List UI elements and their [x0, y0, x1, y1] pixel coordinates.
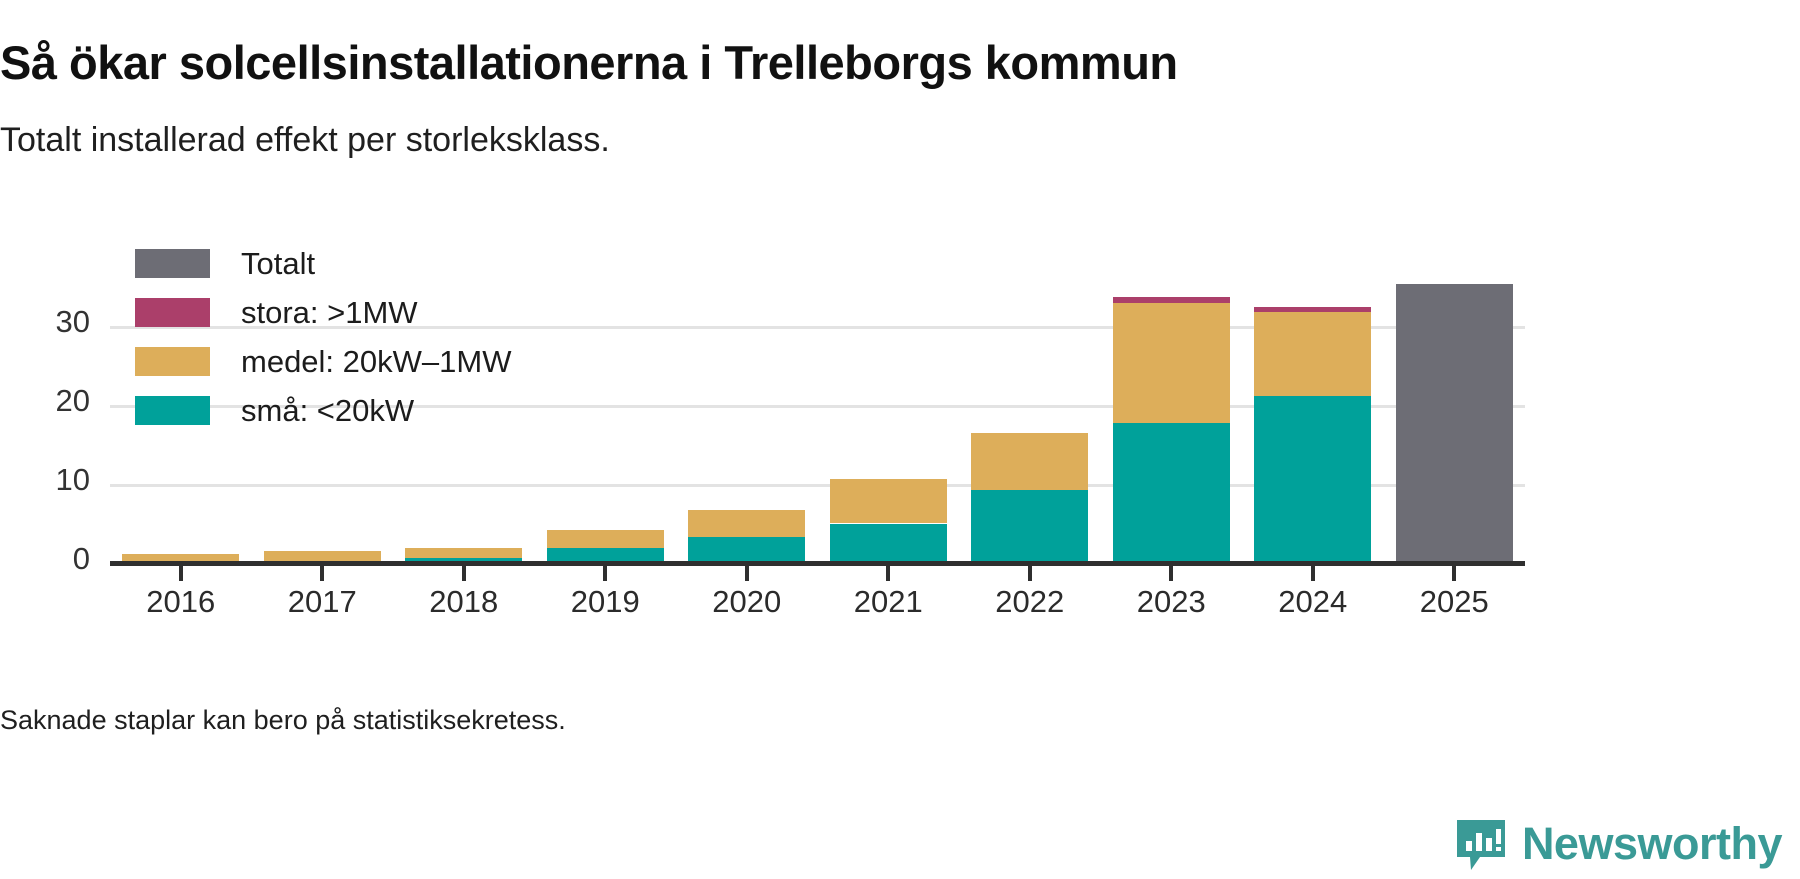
x-axis-tick-mark [320, 566, 324, 581]
x-axis-tick-mark [1311, 566, 1315, 581]
newsworthy-logo[interactable]: Newsworthy [1454, 817, 1782, 871]
bar-segment-sma[interactable] [688, 537, 805, 563]
x-axis-tick-label-2018: 2018 [384, 584, 544, 620]
chart-footnote: Saknade staplar kan bero på statistiksek… [0, 705, 566, 736]
bar-segment-totalt[interactable] [1396, 284, 1513, 563]
legend-swatch-icon [135, 347, 210, 376]
bar-segment-stora[interactable] [1113, 297, 1230, 303]
bar-segment-medel[interactable] [971, 433, 1088, 491]
x-axis-tick-label-2019: 2019 [525, 584, 685, 620]
legend-swatch-icon [135, 249, 210, 278]
x-axis-tick-label-2024: 2024 [1233, 584, 1393, 620]
x-axis-tick-mark [1169, 566, 1173, 581]
bar-segment-stora[interactable] [1254, 307, 1371, 312]
y-axis-tick-label: 10 [0, 462, 90, 498]
x-axis-tick-label-2020: 2020 [667, 584, 827, 620]
bar-group-2023[interactable] [1113, 0, 1230, 563]
y-axis-tick-label: 0 [0, 541, 90, 577]
x-axis-tick-label-2016: 2016 [101, 584, 261, 620]
bar-segment-sma[interactable] [1113, 423, 1230, 563]
legend-item-3[interactable]: små: <20kW [135, 386, 511, 435]
legend-item-label: små: <20kW [241, 393, 414, 429]
bar-segment-sma[interactable] [830, 524, 947, 564]
chart-legend: Totaltstora: >1MWmedel: 20kW–1MWsmå: <20… [135, 239, 511, 435]
newsworthy-wordmark: Newsworthy [1522, 818, 1782, 870]
bar-segment-sma[interactable] [1254, 396, 1371, 563]
bar-group-2025[interactable] [1396, 0, 1513, 563]
bar-segment-medel[interactable] [264, 551, 381, 560]
bar-group-2022[interactable] [971, 0, 1088, 563]
bar-segment-sma[interactable] [971, 490, 1088, 563]
newsworthy-bar-chart-icon [1454, 817, 1508, 871]
x-axis-tick-mark [1028, 566, 1032, 581]
legend-item-label: Totalt [241, 246, 315, 282]
legend-item-label: stora: >1MW [241, 295, 418, 331]
legend-swatch-icon [135, 298, 210, 327]
x-axis-tick-mark [603, 566, 607, 581]
bar-segment-medel[interactable] [1254, 312, 1371, 397]
bar-group-2021[interactable] [830, 0, 947, 563]
x-axis-tick-label-2023: 2023 [1091, 584, 1251, 620]
legend-item-label: medel: 20kW–1MW [241, 344, 511, 380]
y-axis-tick-label: 20 [0, 383, 90, 419]
legend-item-0[interactable]: Totalt [135, 239, 511, 288]
bar-segment-medel[interactable] [830, 479, 947, 523]
bar-group-2020[interactable] [688, 0, 805, 563]
bar-group-2024[interactable] [1254, 0, 1371, 563]
legend-item-1[interactable]: stora: >1MW [135, 288, 511, 337]
bar-segment-medel[interactable] [547, 530, 664, 548]
x-axis-tick-label-2017: 2017 [242, 584, 402, 620]
bar-segment-medel[interactable] [405, 548, 522, 558]
legend-item-2[interactable]: medel: 20kW–1MW [135, 337, 511, 386]
legend-swatch-icon [135, 396, 210, 425]
x-axis-tick-label-2025: 2025 [1374, 584, 1534, 620]
x-axis-tick-label-2022: 2022 [950, 584, 1110, 620]
x-axis-tick-mark [886, 566, 890, 581]
x-axis-tick-mark [745, 566, 749, 581]
bar-segment-medel[interactable] [1113, 303, 1230, 423]
y-axis-tick-label: 30 [0, 304, 90, 340]
bar-segment-medel[interactable] [688, 510, 805, 537]
x-axis-tick-mark [179, 566, 183, 581]
bar-group-2019[interactable] [547, 0, 664, 563]
x-axis-tick-mark [462, 566, 466, 581]
x-axis-tick-label-2021: 2021 [808, 584, 968, 620]
x-axis-tick-mark [1452, 566, 1456, 581]
